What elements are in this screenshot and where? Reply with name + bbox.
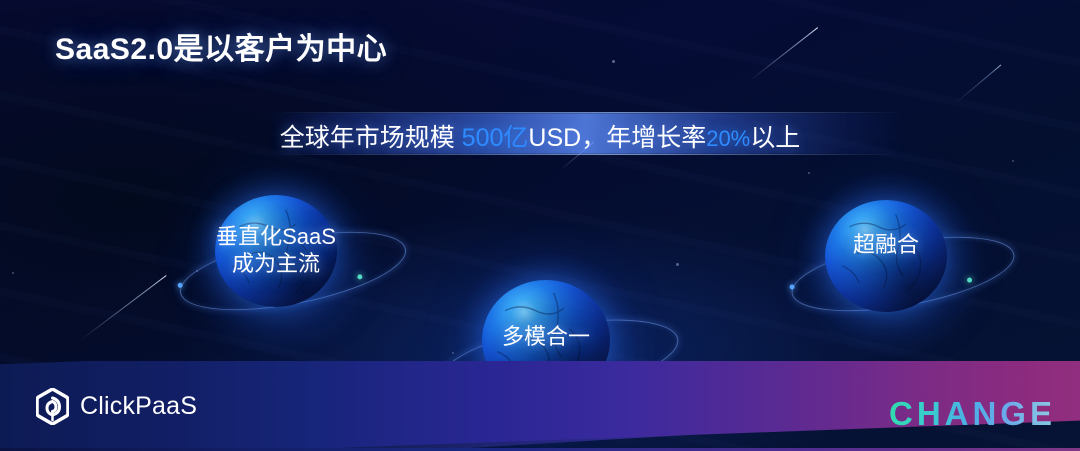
presentation-slide: SaaS2.0是以客户为中心 全球年市场规模 500亿USD，年增长率20%以上 bbox=[0, 0, 1080, 451]
slide-title: SaaS2.0是以客户为中心 bbox=[55, 24, 387, 68]
subtitle-lead: 全球年市场规模 bbox=[280, 124, 462, 152]
particle-decoration bbox=[808, 172, 810, 174]
orbit-dot bbox=[357, 274, 363, 280]
globe-sphere bbox=[825, 200, 947, 312]
particle-decoration bbox=[1012, 160, 1014, 162]
globe-sphere bbox=[215, 195, 337, 307]
orbit-dot bbox=[177, 282, 183, 288]
subtitle-tail: 以上 bbox=[750, 124, 800, 152]
banner-top-line bbox=[268, 112, 904, 113]
orbit-dot bbox=[627, 365, 633, 371]
subtitle-currency: USD bbox=[528, 124, 581, 152]
streak-decoration bbox=[80, 275, 167, 341]
clickpaas-hexagon-icon bbox=[36, 388, 69, 425]
continent-outlines bbox=[482, 280, 610, 400]
globe-sphere bbox=[482, 280, 610, 400]
continent-outlines bbox=[825, 200, 947, 312]
orbit-dot bbox=[967, 277, 973, 283]
orbit-dot bbox=[789, 284, 795, 290]
particle-decoration bbox=[12, 272, 14, 274]
clickpaas-wordmark: ClickPaaS bbox=[80, 392, 197, 421]
subtitle-amount: 500亿 bbox=[462, 124, 529, 152]
subtitle-rate: 20% bbox=[706, 126, 750, 151]
streak-decoration bbox=[750, 27, 818, 81]
banner-bottom-line bbox=[268, 154, 904, 155]
continent-outlines bbox=[215, 195, 337, 307]
subtitle-text: 全球年市场规模 500亿USD，年增长率20%以上 bbox=[0, 118, 1080, 154]
particle-decoration bbox=[196, 270, 198, 272]
orbit-dot bbox=[437, 370, 443, 376]
clickpaas-logo[interactable]: ClickPaaS bbox=[36, 388, 197, 425]
change-tagline: CHANGE bbox=[889, 395, 1056, 433]
particle-decoration bbox=[612, 60, 615, 63]
streak-decoration bbox=[955, 65, 1002, 104]
subtitle-middle: ，年增长率 bbox=[581, 124, 706, 152]
particle-decoration bbox=[676, 263, 679, 266]
particle-decoration bbox=[452, 352, 454, 354]
